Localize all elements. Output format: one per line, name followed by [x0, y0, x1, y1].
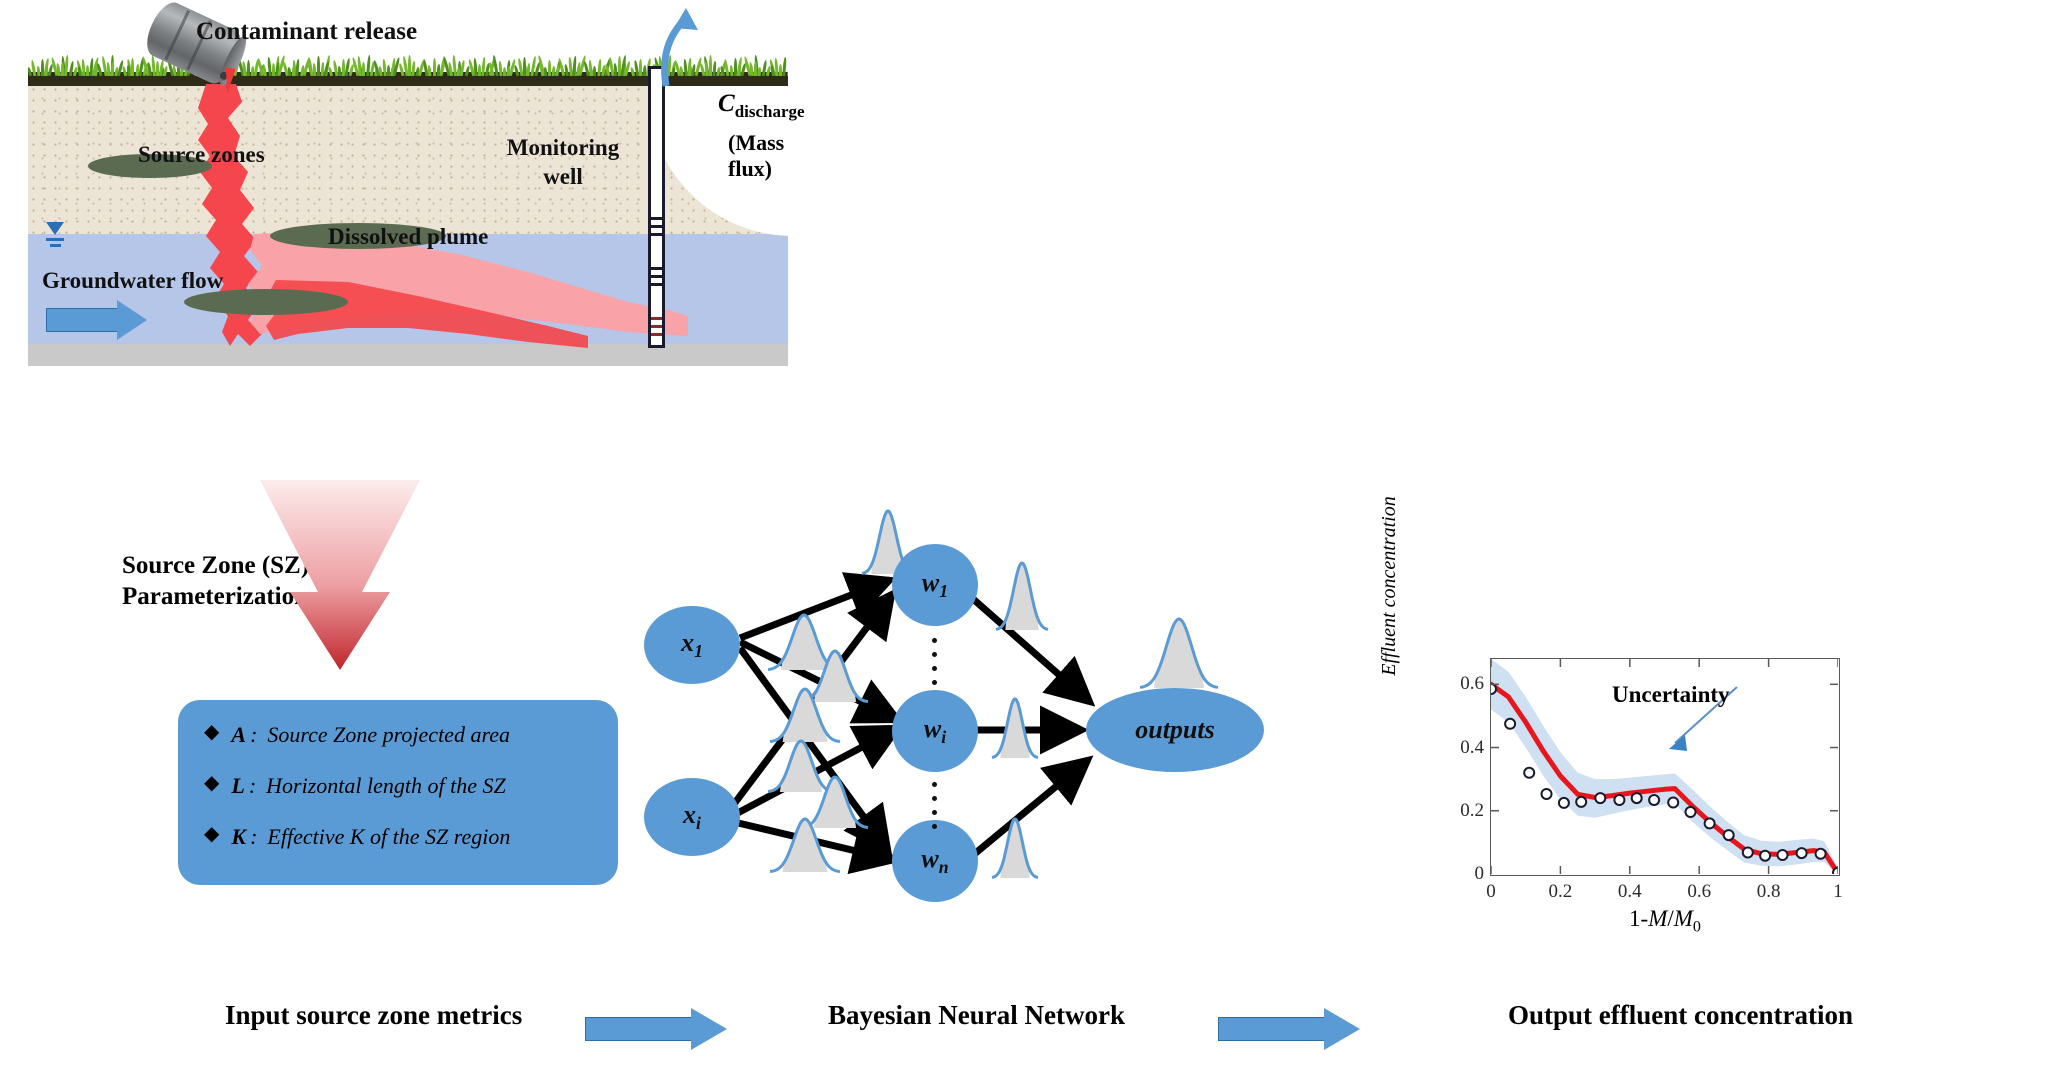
chart-y-tick-label: 0.2	[1460, 800, 1484, 822]
chart-x-tick-label: 0.4	[1618, 881, 1642, 903]
sz-parameter-item: ◆ A : Source Zone projected area	[204, 722, 618, 748]
output-node-label: outputs	[1135, 715, 1215, 745]
water-table-icon	[46, 222, 64, 247]
sz-parameter-key: K	[231, 824, 246, 850]
sz-parameter-item: ◆ K : Effective K of the SZ region	[204, 824, 618, 850]
footer-output-caption: Output effluent concentration	[1508, 1000, 1853, 1031]
sz-parameter-text: Effective K of the SZ region	[267, 824, 510, 850]
sz-parameter-box: ◆ A : Source Zone projected area ◆ L : H…	[178, 700, 618, 885]
weight-distribution-icon	[996, 560, 1048, 635]
label-c-discharge: Cdischarge	[718, 90, 805, 122]
chart-y-tick-label: 0	[1475, 863, 1485, 885]
label-contaminant-release: Contaminant release	[196, 18, 417, 46]
hidden-layer-ellipsis-top	[932, 638, 937, 685]
sz-parameter-colon: :	[249, 773, 256, 799]
hidden-node-wi: wi	[892, 690, 978, 772]
input-node-xi: xi	[644, 778, 740, 856]
label-monitoring-well-line1: Monitoring	[498, 134, 628, 163]
sz-parameter-text: Horizontal length of the SZ	[266, 773, 506, 799]
diamond-bullet-icon: ◆	[204, 722, 219, 742]
sz-parameter-key: A	[231, 722, 246, 748]
label-groundwater-flow: Groundwater flow	[42, 268, 223, 294]
monitoring-well-icon	[648, 66, 665, 348]
input-node-x1-label: x1	[681, 628, 703, 662]
output-node: outputs	[1086, 688, 1264, 772]
label-monitoring-well-line2: well	[498, 163, 628, 192]
label-mass-flux: (Mass flux)	[728, 130, 788, 182]
footer-input-caption: Input source zone metrics	[225, 1000, 522, 1031]
conceptual-cross-section: Contaminant release Source zones Dissolv…	[28, 72, 788, 352]
chart-x-tick-label: 0.2	[1549, 881, 1573, 903]
uncertainty-annotation-label: Uncertainty	[1612, 682, 1730, 708]
chart-x-tick-label: 0	[1486, 881, 1496, 903]
label-source-zones: Source zones	[138, 142, 265, 168]
input-node-x1: x1	[644, 606, 740, 684]
chart-y-tick-label: 0.4	[1460, 737, 1484, 759]
hidden-node-w1-label: w1	[922, 568, 948, 602]
chart-x-tick-label: 1	[1833, 881, 1843, 903]
sz-parameter-text: Source Zone projected area	[267, 722, 510, 748]
c-discharge-subscript: discharge	[735, 102, 805, 121]
diamond-bullet-icon: ◆	[204, 773, 219, 793]
sz-parameter-colon: :	[250, 722, 257, 748]
weight-distribution-icon	[1140, 616, 1218, 693]
sz-parameter-item: ◆ L : Horizontal length of the SZ	[204, 773, 618, 799]
chart-y-axis-label: Effluent concentration	[1378, 496, 1401, 676]
c-discharge-symbol: C	[718, 90, 735, 117]
hidden-node-w1: w1	[892, 544, 978, 626]
groundwater-flow-arrow-icon	[46, 300, 147, 340]
chart-y-tick-label: 0.6	[1460, 673, 1484, 695]
input-node-xi-label: xi	[683, 800, 701, 834]
label-monitoring-well: Monitoring well	[498, 134, 628, 192]
sz-parameter-key: L	[231, 773, 244, 799]
discharge-arrow-icon	[640, 0, 730, 90]
effluent-concentration-chart: Effluent concentration 00.20.40.6 00.20.…	[1380, 650, 1900, 950]
footer-arrow-2-icon	[1218, 1008, 1360, 1050]
chart-x-tick-label: 0.8	[1757, 881, 1781, 903]
weight-distribution-icon	[992, 696, 1038, 763]
chart-x-axis-label: 1-M/M0	[1490, 906, 1840, 937]
bayesian-neural-network-diagram: x1 xi w1 wi wn outputs	[620, 520, 1360, 980]
hidden-node-wn-label: wn	[921, 844, 948, 878]
weight-distribution-icon	[992, 816, 1038, 883]
sz-parameter-colon: :	[250, 824, 257, 850]
footer-arrow-1-icon	[585, 1008, 727, 1050]
weight-distribution-icon	[770, 816, 840, 877]
chart-x-tick-label: 0.6	[1687, 881, 1711, 903]
label-dissolved-plume: Dissolved plume	[328, 224, 488, 250]
hidden-layer-ellipsis-bottom	[932, 782, 937, 829]
funnel-arrow-icon	[250, 480, 430, 680]
hidden-node-wn: wn	[892, 820, 978, 902]
footer-model-caption: Bayesian Neural Network	[828, 1000, 1125, 1031]
diamond-bullet-icon: ◆	[204, 824, 219, 844]
hidden-node-wi-label: wi	[924, 714, 946, 748]
